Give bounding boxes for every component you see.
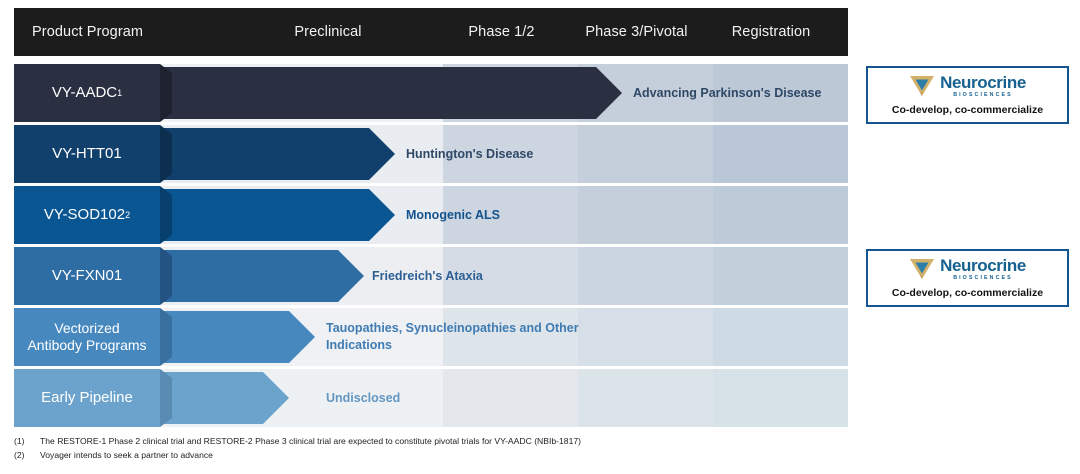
table-row[interactable]: VectorizedAntibody Programs Tauopathies,… (14, 308, 848, 366)
program-label-early-pipeline[interactable]: Early Pipeline (14, 369, 160, 427)
label-bevel (160, 308, 172, 366)
column-header-preclinical: Preclinical (219, 8, 437, 56)
label-bevel (160, 247, 172, 305)
cell-registration (713, 125, 848, 183)
label-bevel (160, 369, 172, 427)
partner-box-neurocrine-1[interactable]: Neurocrine BIOSCIENCES Co-develop, co-co… (866, 66, 1069, 124)
program-label-vy-sod102[interactable]: VY-SOD1022 (14, 186, 160, 244)
table-row[interactable]: VY-AADC1 Advancing Parkinson's Disease (14, 64, 848, 122)
brand-subtitle: BIOSCIENCES (953, 276, 1013, 281)
triangle-logo-icon (909, 258, 935, 280)
neurocrine-logo: Neurocrine BIOSCIENCES (868, 73, 1067, 99)
program-label-vy-aadc[interactable]: VY-AADC1 (14, 64, 160, 122)
program-name: Early Pipeline (41, 389, 133, 407)
program-name: VY-AADC (52, 84, 117, 102)
column-header-phase-1-2: Phase 1/2 (434, 8, 569, 56)
program-label-vy-fxn01[interactable]: VY-FXN01 (14, 247, 160, 305)
neurocrine-wordmark: Neurocrine BIOSCIENCES (940, 257, 1026, 281)
neurocrine-logo: Neurocrine BIOSCIENCES (868, 256, 1067, 282)
label-bevel (160, 64, 172, 122)
progress-arrow (154, 372, 289, 424)
partner-caption: Co-develop, co-commercialize (868, 287, 1067, 299)
indication-label: Huntington's Disease (406, 125, 606, 183)
label-bevel (160, 125, 172, 183)
partner-box-neurocrine-2[interactable]: Neurocrine BIOSCIENCES Co-develop, co-co… (866, 249, 1069, 307)
cell-phase-3-pivotal (578, 308, 713, 366)
brand-name: Neurocrine (940, 257, 1026, 274)
indication-label: Tauopathies, Synucleinopathies and Other… (326, 308, 588, 366)
column-header-phase-3-pivotal: Phase 3/Pivotal (569, 8, 704, 56)
progress-arrow (154, 189, 395, 241)
neurocrine-wordmark: Neurocrine BIOSCIENCES (940, 74, 1026, 98)
table-row[interactable]: Early Pipeline Undisclosed (14, 369, 848, 427)
cell-registration (713, 247, 848, 305)
cell-registration (713, 369, 848, 427)
indication-label: Monogenic ALS (406, 186, 606, 244)
program-name: VectorizedAntibody Programs (27, 320, 146, 354)
table-row[interactable]: VY-HTT01 Huntington's Disease (14, 125, 848, 183)
column-header-product-program: Product Program (32, 8, 143, 56)
brand-name: Neurocrine (940, 74, 1026, 91)
progress-arrow (154, 128, 395, 180)
indication-label: Advancing Parkinson's Disease (633, 64, 848, 122)
cell-registration (713, 186, 848, 244)
pipeline-chart: Product Program Preclinical Phase 1/2 Ph… (14, 8, 848, 428)
program-label-vy-htt01[interactable]: VY-HTT01 (14, 125, 160, 183)
column-header-registration: Registration (704, 8, 838, 56)
indication-label: Friedreich's Ataxia (372, 247, 572, 305)
indication-label: Undisclosed (326, 369, 526, 427)
progress-arrow (154, 250, 364, 302)
footnote-marker: 1 (117, 88, 122, 99)
footnote-marker: 2 (125, 210, 130, 221)
program-label-vectorized-antibody-programs[interactable]: VectorizedAntibody Programs (14, 308, 160, 366)
program-name: VY-HTT01 (52, 145, 121, 163)
footnote-text: The RESTORE-1 Phase 2 clinical trial and… (40, 436, 581, 446)
cell-phase-3-pivotal (578, 369, 713, 427)
brand-subtitle: BIOSCIENCES (953, 93, 1013, 98)
partner-caption: Co-develop, co-commercialize (868, 104, 1067, 116)
cell-registration (713, 308, 848, 366)
program-name: VY-SOD102 (44, 206, 125, 224)
footnote-number: (1) (14, 436, 40, 446)
footnote-1: (1)The RESTORE-1 Phase 2 clinical trial … (14, 436, 581, 446)
table-row[interactable]: VY-SOD1022 Monogenic ALS (14, 186, 848, 244)
footnote-number: (2) (14, 450, 40, 460)
label-bevel (160, 186, 172, 244)
program-name: VY-FXN01 (52, 267, 122, 285)
cell-phase-3-pivotal (578, 247, 713, 305)
progress-arrow (154, 67, 622, 119)
footnote-text: Voyager intends to seek a partner to adv… (40, 450, 213, 460)
triangle-logo-icon (909, 75, 935, 97)
pipeline-header: Product Program Preclinical Phase 1/2 Ph… (14, 8, 848, 56)
table-row[interactable]: VY-FXN01 Friedreich's Ataxia (14, 247, 848, 305)
progress-arrow (154, 311, 315, 363)
footnote-2: (2)Voyager intends to seek a partner to … (14, 450, 213, 460)
